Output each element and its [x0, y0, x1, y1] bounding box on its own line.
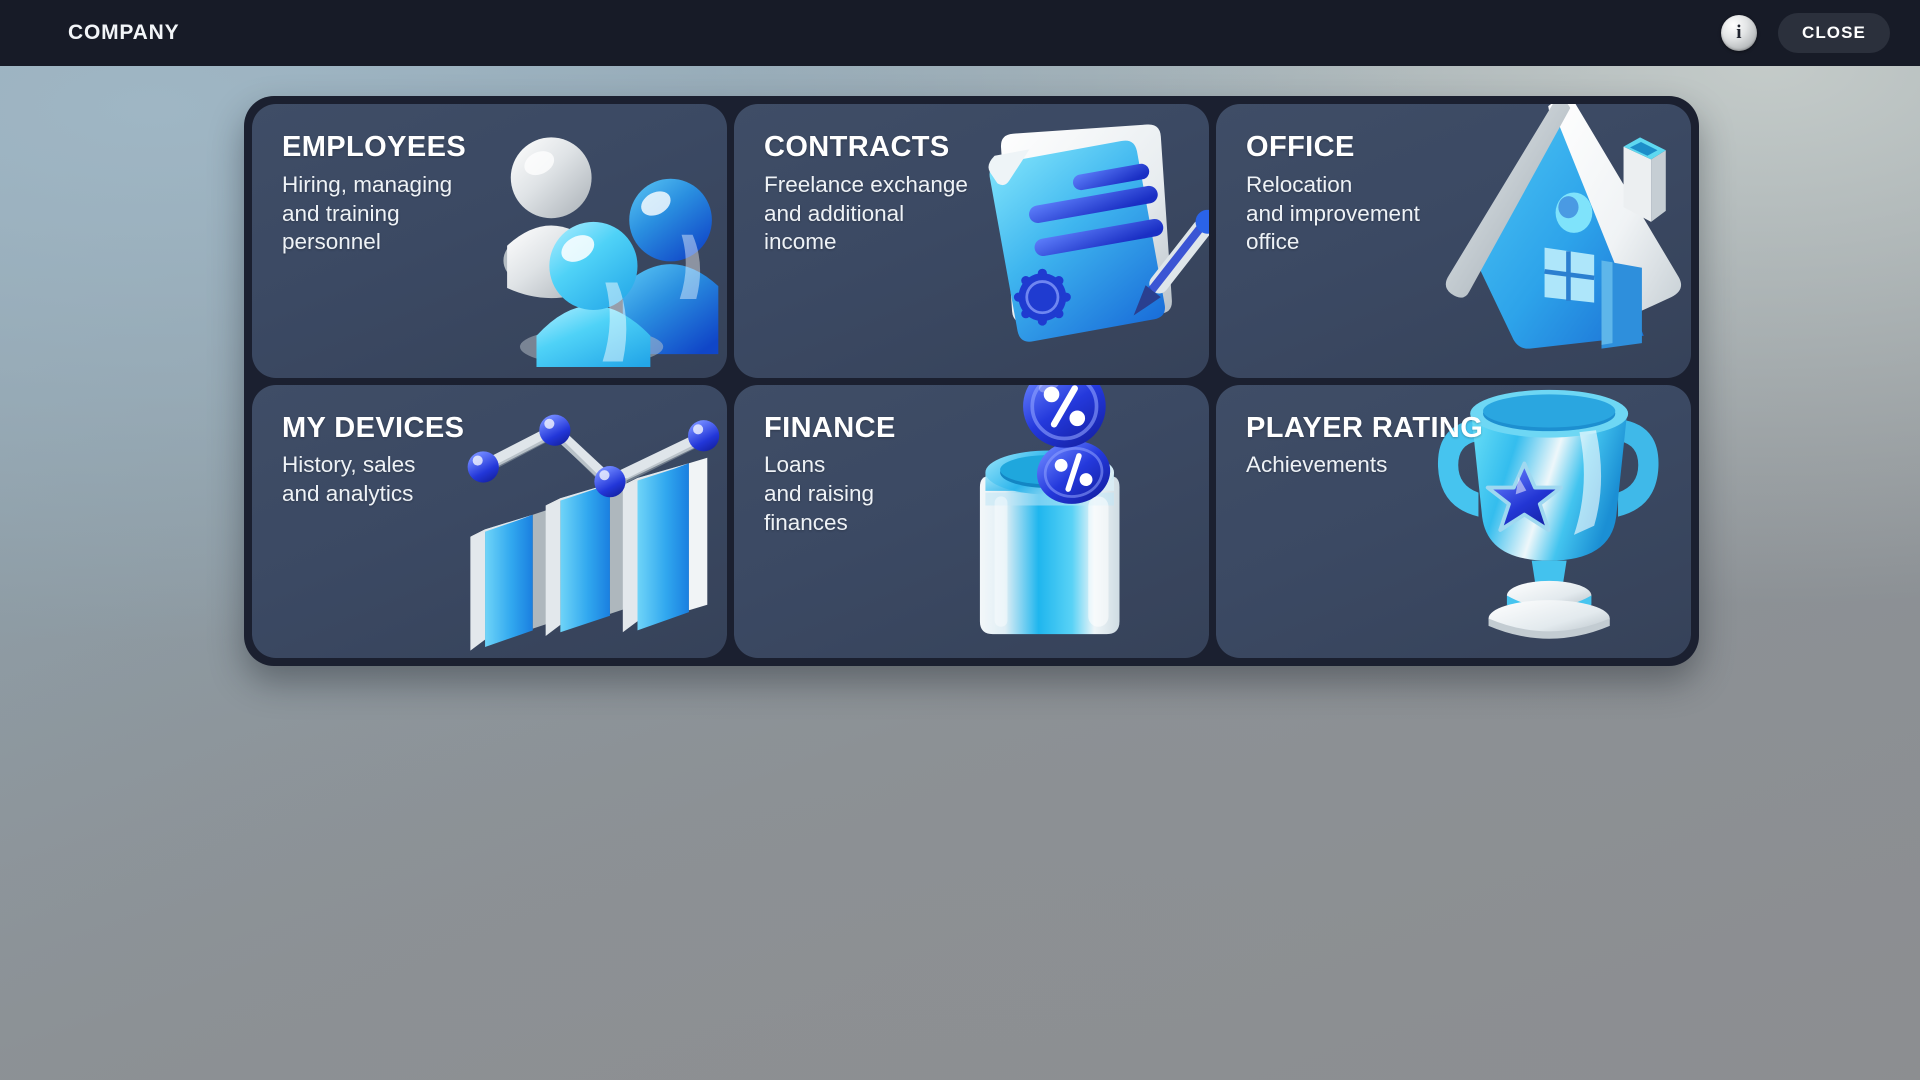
- card-text-block: CONTRACTS Freelance exchange and additio…: [764, 132, 1038, 257]
- card-title: PLAYER RATING: [1246, 413, 1520, 444]
- menu-card-my-devices[interactable]: MY DEVICES History, sales and analytics: [252, 385, 727, 659]
- menu-card-contracts[interactable]: CONTRACTS Freelance exchange and additio…: [734, 104, 1209, 378]
- card-text-block: OFFICE Relocation and improvement office: [1246, 132, 1520, 257]
- card-title: MY DEVICES: [282, 413, 556, 444]
- card-title: FINANCE: [764, 413, 1038, 444]
- card-text-block: PLAYER RATING Achievements: [1246, 413, 1520, 481]
- card-title: OFFICE: [1246, 132, 1520, 163]
- card-description: History, sales and analytics: [282, 451, 556, 509]
- card-description: Hiring, managing and training personnel: [282, 171, 556, 257]
- card-description: Relocation and improvement office: [1246, 171, 1520, 257]
- card-description: Achievements: [1246, 451, 1520, 480]
- menu-card-player-rating[interactable]: PLAYER RATING Achievements: [1216, 385, 1691, 659]
- close-button[interactable]: CLOSE: [1778, 13, 1890, 53]
- card-text-block: FINANCE Loans and raising finances: [764, 413, 1038, 538]
- card-title: EMPLOYEES: [282, 132, 556, 163]
- card-text-block: MY DEVICES History, sales and analytics: [282, 413, 556, 509]
- menu-card-finance[interactable]: FINANCE Loans and raising finances: [734, 385, 1209, 659]
- app-title: COMPANY: [68, 21, 179, 45]
- card-description: Loans and raising finances: [764, 451, 1038, 537]
- card-title: CONTRACTS: [764, 132, 1038, 163]
- menu-panel: EMPLOYEES Hiring, managing and training …: [244, 96, 1699, 666]
- info-icon[interactable]: i: [1721, 15, 1757, 51]
- card-text-block: EMPLOYEES Hiring, managing and training …: [282, 132, 556, 257]
- top-bar-actions: i CLOSE: [1721, 13, 1890, 53]
- menu-card-office[interactable]: OFFICE Relocation and improvement office: [1216, 104, 1691, 378]
- info-glyph: i: [1736, 23, 1741, 42]
- menu-card-employees[interactable]: EMPLOYEES Hiring, managing and training …: [252, 104, 727, 378]
- card-description: Freelance exchange and additional income: [764, 171, 1038, 257]
- top-bar: COMPANY i CLOSE: [0, 0, 1920, 66]
